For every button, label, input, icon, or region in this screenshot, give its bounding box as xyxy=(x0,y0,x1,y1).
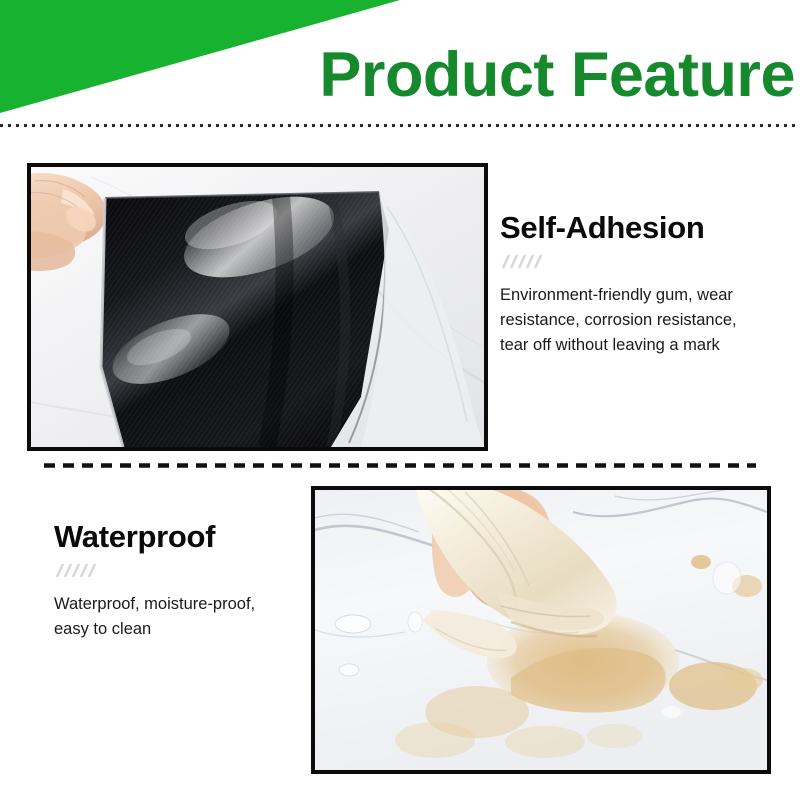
feature-body-line: tear off without leaving a mark xyxy=(500,333,790,358)
feature-image-self-adhesion xyxy=(27,163,488,451)
feature-heading-waterproof: Waterproof xyxy=(54,518,304,556)
feature-heading-self-adhesion: Self-Adhesion xyxy=(500,209,790,247)
page-title: Product Feature xyxy=(319,41,795,109)
feature-body-line: Environment-friendly gum, wear xyxy=(500,283,790,308)
self-adhesion-photo-art xyxy=(31,167,484,447)
product-feature-infographic: Product Feature xyxy=(0,0,800,800)
waterproof-photo-art xyxy=(315,490,767,770)
hatch-decoration-icon xyxy=(500,254,544,269)
feature-body-self-adhesion: Environment-friendly gum, wear resistanc… xyxy=(500,283,790,358)
feature-body-waterproof: Waterproof, moisture-proof, easy to clea… xyxy=(54,592,304,642)
feature-body-line: easy to clean xyxy=(54,617,304,642)
hatch-decoration-icon xyxy=(54,563,98,578)
section-dashed-divider xyxy=(44,463,756,468)
feature-block-waterproof: Waterproof Waterproof, moisture-proof, e… xyxy=(54,518,304,642)
feature-body-line: Waterproof, moisture-proof, xyxy=(54,592,304,617)
header-banner: Product Feature xyxy=(0,0,800,127)
feature-body-line: resistance, corrosion resistance, xyxy=(500,308,790,333)
feature-block-self-adhesion: Self-Adhesion Environment-friendly gum, … xyxy=(500,209,790,358)
feature-image-waterproof xyxy=(311,486,771,774)
header-dotted-divider xyxy=(0,124,800,127)
